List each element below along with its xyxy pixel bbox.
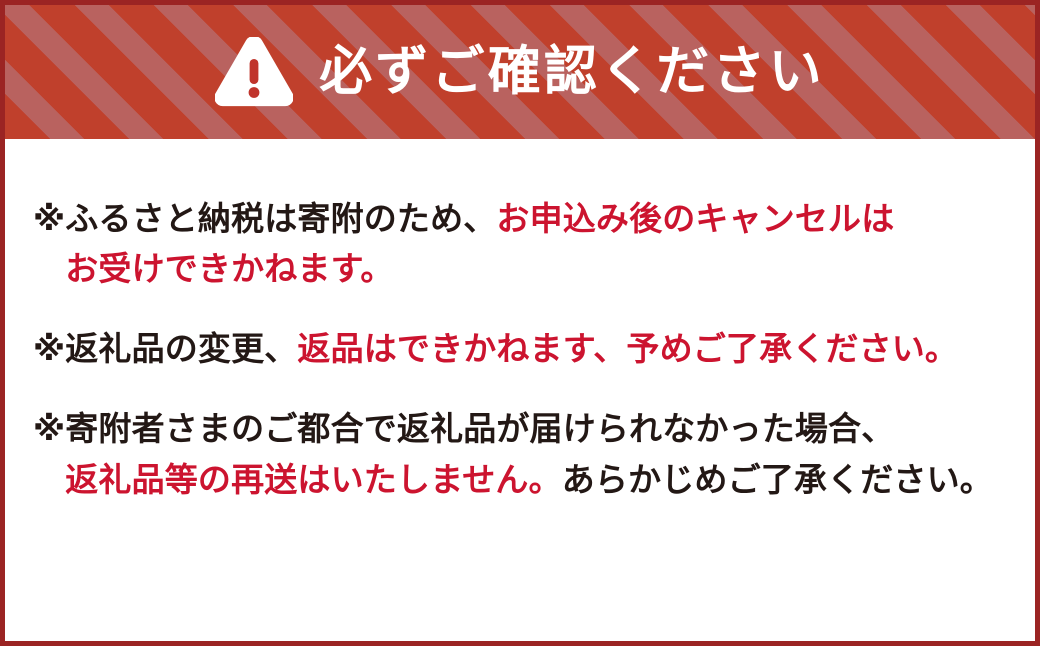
warning-triangle-icon (215, 37, 293, 107)
notice-segment: あらかじめご了承ください。 (562, 460, 993, 499)
notice-item-text: ふるさと納税は寄附のため、お申込み後のキャンセルは お受けできかねます。 (65, 194, 1009, 294)
notice-line: お受けできかねます。 (65, 244, 1009, 294)
notice-line: ふるさと納税は寄附のため、お申込み後のキャンセルは (65, 194, 1009, 244)
notice-segment: 返礼品の変更、 (65, 329, 297, 368)
notice-segment-highlight: 返礼品等の再送はいたしません。 (65, 460, 562, 499)
notice-segment-highlight: お受けできかねます。 (65, 249, 393, 288)
notice-line: 寄附者さまのご都合で返礼品が届けられなかった場合、 (65, 404, 1009, 454)
header-content: 必ずご確認ください (215, 37, 825, 107)
notice-body: ※ ふるさと納税は寄附のため、お申込み後のキャンセルは お受けできかねます。 ※… (5, 139, 1035, 641)
notice-segment-highlight: お申込み後のキャンセルは (496, 199, 894, 238)
bullet-mark: ※ (33, 324, 65, 374)
notice-item: ※ 返礼品の変更、返品はできかねます、予めご了承ください。 (33, 324, 1009, 374)
notice-line: 返礼品等の再送はいたしません。あらかじめご了承ください。 (65, 455, 1009, 505)
bullet-mark: ※ (33, 404, 65, 454)
notice-item-text: 返礼品の変更、返品はできかねます、予めご了承ください。 (65, 324, 1009, 374)
notice-frame: 必ずご確認ください ※ ふるさと納税は寄附のため、お申込み後のキャンセルは お受… (0, 0, 1040, 646)
page-title: 必ずご確認ください (319, 44, 825, 100)
notice-line: 返礼品の変更、返品はできかねます、予めご了承ください。 (65, 324, 1009, 374)
notice-item-text: 寄附者さまのご都合で返礼品が届けられなかった場合、 返礼品等の再送はいたしません… (65, 404, 1009, 504)
notice-item: ※ 寄附者さまのご都合で返礼品が届けられなかった場合、 返礼品等の再送はいたしま… (33, 404, 1009, 504)
notice-item: ※ ふるさと納税は寄附のため、お申込み後のキャンセルは お受けできかねます。 (33, 194, 1009, 294)
notice-header-banner: 必ずご確認ください (5, 5, 1035, 139)
notice-segment: ふるさと納税は寄附のため、 (65, 199, 496, 238)
bullet-mark: ※ (33, 194, 65, 244)
notice-segment-highlight: 返品はできかねます、予めご了承ください。 (297, 329, 958, 368)
notice-segment: 寄附者さまのご都合で返礼品が届けられなかった場合、 (65, 409, 894, 448)
